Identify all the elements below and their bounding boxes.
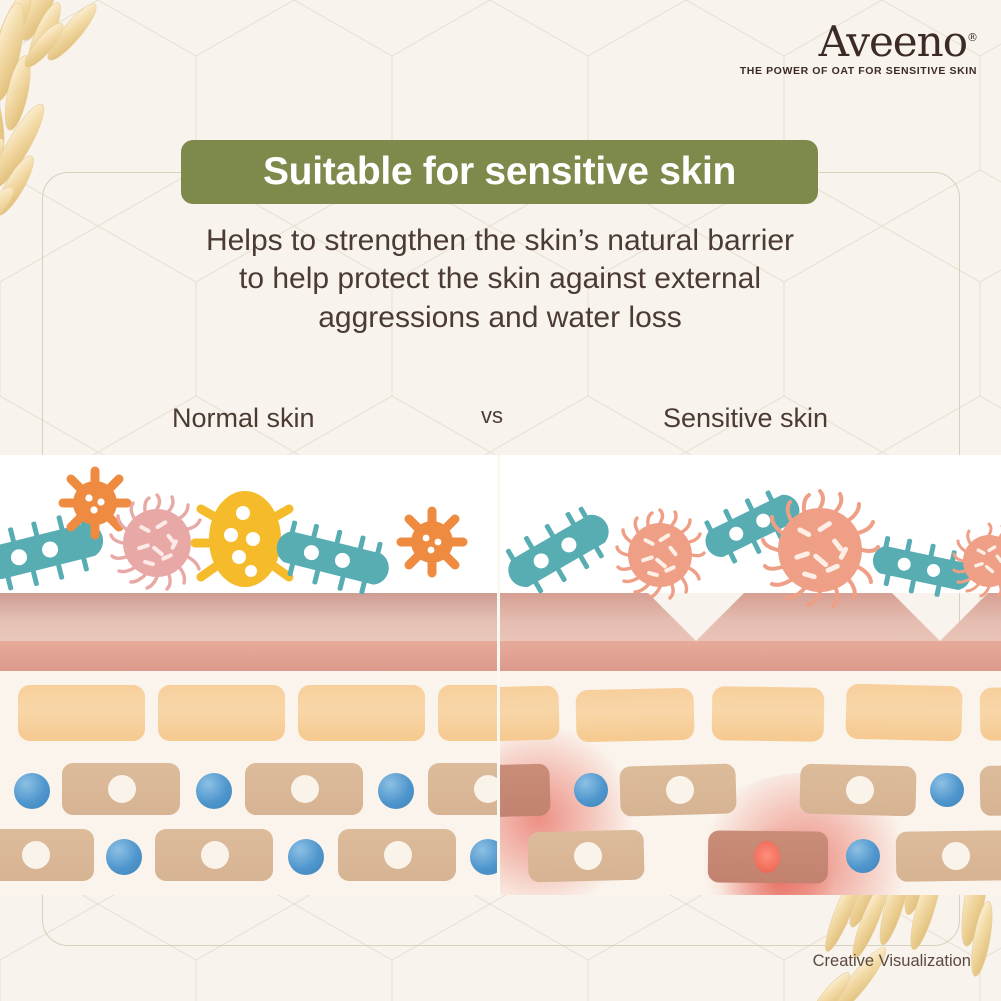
cell-nucleus-inflamed	[754, 841, 780, 873]
keratinocyte-cell	[619, 763, 736, 816]
subheadline-line-3: aggressions and water loss	[150, 299, 850, 337]
corneocyte-cell	[18, 685, 145, 741]
headline-banner: Suitable for sensitive skin	[181, 140, 818, 204]
sensitive-cell-row-bottom	[500, 829, 1001, 887]
keratinocyte-cell	[527, 830, 644, 883]
keratinocyte-cell	[0, 829, 94, 881]
panel-divider	[497, 455, 500, 895]
registered-trademark-icon: ®	[967, 31, 977, 44]
sensitive-skin-panel	[500, 455, 1001, 895]
headline-text: Suitable for sensitive skin	[263, 150, 736, 194]
microbe-virus-orange-1	[63, 471, 127, 535]
label-vs: vs	[481, 403, 503, 429]
microbe-bacillus-teal-1	[500, 498, 621, 604]
normal-cell-row-bottom	[0, 829, 497, 887]
water-droplet	[106, 839, 142, 875]
water-droplet	[196, 773, 232, 809]
cell-nucleus	[201, 841, 229, 869]
brand-logo: Aveeno® THE POWER OF OAT FOR SENSITIVE S…	[740, 22, 977, 77]
brand-name-text: Aveeno	[819, 17, 967, 66]
normal-cell-row-orange	[0, 685, 497, 747]
oat-sprig-top-left-icon	[0, 0, 152, 260]
keratinocyte-cell	[799, 764, 916, 817]
keratinocyte-cell-inflamed	[708, 830, 829, 883]
microbe-coccus-salmon-1	[617, 510, 704, 598]
corneocyte-cell	[500, 685, 560, 742]
cell-nucleus	[942, 842, 970, 870]
corneocyte-cell	[980, 686, 1001, 741]
keratinocyte-cell	[896, 830, 1001, 882]
water-droplet	[378, 773, 414, 809]
cell-nucleus	[384, 841, 412, 869]
creative-visualization-caption: Creative Visualization	[813, 952, 971, 971]
microbe-virus-orange-2	[401, 511, 463, 573]
infographic-canvas: Aveeno® THE POWER OF OAT FOR SENSITIVE S…	[0, 0, 1001, 1001]
sensitive-cell-row-middle	[500, 763, 1001, 821]
corneocyte-cell	[158, 685, 285, 741]
water-droplet	[930, 773, 964, 807]
corneocyte-cell	[438, 685, 497, 741]
damaged-barrier-upper	[500, 593, 1001, 641]
keratinocyte-cell	[428, 763, 497, 815]
cell-nucleus	[22, 841, 50, 869]
subheadline-line-1: Helps to strengthen the skin’s natural b…	[150, 222, 850, 260]
comparison-labels: Normal skin vs Sensitive skin	[0, 403, 1001, 445]
cell-nucleus	[108, 775, 136, 803]
label-sensitive-skin: Sensitive skin	[663, 403, 828, 434]
microbe-bacillus-teal-2	[270, 516, 395, 601]
label-normal-skin: Normal skin	[172, 403, 315, 434]
cell-nucleus	[846, 776, 875, 805]
water-droplet	[574, 773, 608, 807]
keratinocyte-cell	[338, 829, 456, 881]
water-droplet	[288, 839, 324, 875]
corneocyte-cell	[845, 684, 962, 742]
cell-nucleus	[666, 776, 695, 805]
brand-tagline: THE POWER OF OAT FOR SENSITIVE SKIN	[740, 65, 977, 77]
water-droplet	[14, 773, 50, 809]
brand-wordmark: Aveeno®	[819, 22, 977, 62]
cell-nucleus	[291, 775, 319, 803]
sensitive-cell-row-orange	[500, 685, 1001, 747]
cell-nucleus	[574, 842, 603, 871]
corneocyte-cell	[298, 685, 425, 741]
damaged-barrier-lower	[500, 641, 1001, 671]
microbe-coccus-pink-1	[111, 495, 204, 589]
keratinocyte-cell	[245, 763, 363, 815]
normal-skin-panel	[0, 455, 497, 895]
keratinocyte-cell	[155, 829, 273, 881]
skin-comparison-illustration	[0, 455, 1001, 895]
keratinocyte-cell	[980, 764, 1001, 816]
corneocyte-cell	[712, 686, 825, 742]
water-droplet	[470, 839, 497, 875]
subheadline-line-2: to help protect the skin against externa…	[150, 260, 850, 298]
corneocyte-cell	[575, 688, 694, 742]
keratinocyte-cell-inflamed	[500, 764, 551, 819]
cell-nucleus	[474, 775, 497, 803]
keratinocyte-cell	[62, 763, 180, 815]
subheadline: Helps to strengthen the skin’s natural b…	[150, 222, 850, 337]
normal-cell-row-middle	[0, 763, 497, 821]
water-droplet	[846, 839, 880, 873]
